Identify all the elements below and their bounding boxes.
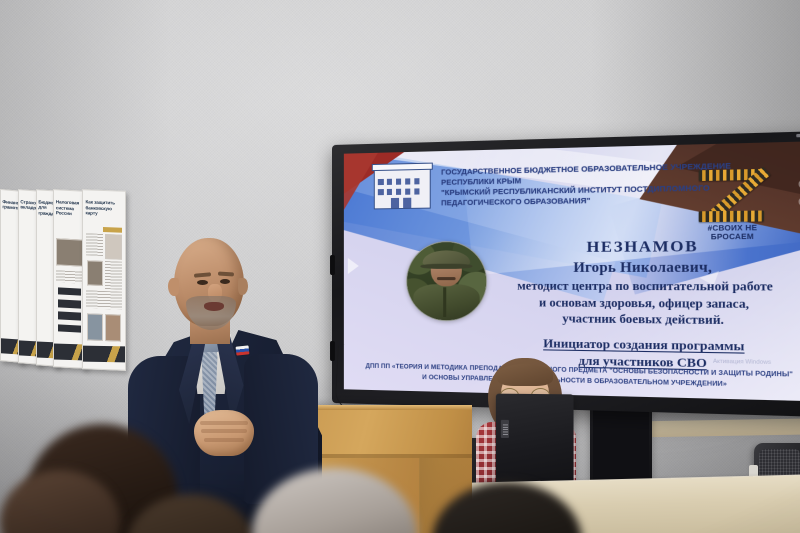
monitor-screen <box>593 401 649 490</box>
poster-stripe <box>83 346 125 363</box>
poster-title: Налоговая система России <box>56 199 84 218</box>
panel-side-button-1[interactable] <box>330 255 335 275</box>
person-info-block: НЕЗНАМОВ Игорь Николаевич, методист цент… <box>498 237 795 374</box>
presentation-slide: ГОСУДАРСТВЕННОЕ БЮДЖЕТНОЕ ОБРАЗОВАТЕЛЬНО… <box>344 141 800 401</box>
person-portrait-photo <box>406 241 487 322</box>
z-letter-icon <box>694 167 769 225</box>
laptop-brand-logo <box>501 420 509 438</box>
poster-body <box>56 225 84 350</box>
poster-1: Как защитить банковскую карту <box>82 189 126 371</box>
watermark-line-1: Активация Windows <box>713 359 771 368</box>
panel-status-led <box>796 134 800 138</box>
slide-corner-red-2 <box>344 153 378 210</box>
speaker-clasped-hands <box>194 410 254 456</box>
person-role-line-3: участник боевых действий. <box>498 310 795 329</box>
wall-ledge <box>638 419 800 438</box>
person-surname: НЕЗНАМОВ <box>498 237 795 259</box>
panel-screen[interactable]: ГОСУДАРСТВЕННОЕ БЮДЖЕТНОЕ ОБРАЗОВАТЕЛЬНО… <box>344 141 800 401</box>
speaker-eye-left <box>197 280 208 285</box>
person-role-line-1: методист центра по воспитательной работе <box>498 278 795 295</box>
panel-power-cable <box>334 344 364 413</box>
institute-name-block: ГОСУДАРСТВЕННОЕ БЮДЖЕТНОЕ ОБРАЗОВАТЕЛЬНО… <box>441 162 673 209</box>
person-role-line-2: и основам здоровья, офицер запаса, <box>498 294 795 312</box>
speaker-ear-right <box>238 278 248 295</box>
conference-room-photo: Финансовая грамотность Страхование вклад… <box>0 0 800 533</box>
wall-poster-group: Финансовая грамотность Страхование вклад… <box>0 190 128 370</box>
speaker-ear-left <box>168 278 179 296</box>
institute-building-logo <box>374 168 431 210</box>
speaker-eye-right <box>220 279 230 284</box>
speaker-mouth <box>204 302 224 311</box>
person-given-name: Игорь Николаевич, <box>498 257 795 276</box>
windows-activation-watermark: Активация Windows <box>713 359 771 368</box>
chevron-left-icon <box>348 258 359 274</box>
laptop-lenovo[interactable] <box>496 394 574 487</box>
woman-fringe <box>497 364 553 386</box>
panel-side-button-2[interactable] <box>330 341 335 361</box>
person-role: методист центра по воспитательной работе… <box>498 278 795 329</box>
poster-body <box>86 226 123 352</box>
poster-title: Как защитить банковскую карту <box>86 199 123 218</box>
lectern-top-edge <box>300 405 472 410</box>
russian-flag-pin-icon <box>236 345 250 355</box>
